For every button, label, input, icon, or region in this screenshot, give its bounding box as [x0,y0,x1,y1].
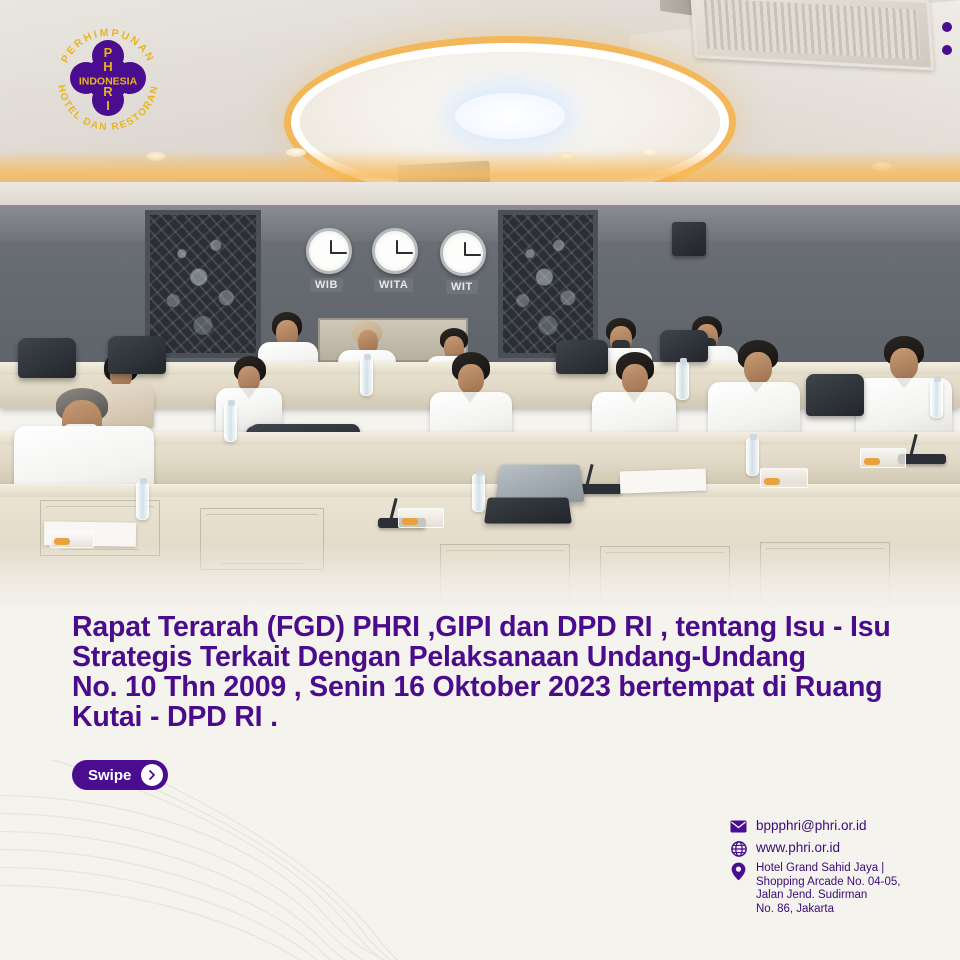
svg-text:I: I [106,98,110,113]
snack-box [860,448,906,468]
water-bottle [360,358,373,396]
contact-address-row: Hotel Grand Sahid Jaya | Shopping Arcade… [730,862,950,916]
clock-label-wib: WIB [310,278,343,292]
clock-wit [440,230,486,276]
map-pin-icon [730,863,747,880]
ceiling-lamp [455,93,565,139]
title-line-3: No. 10 Thn 2009 , Senin 16 Oktober 2023 … [72,672,902,702]
water-bottle [746,438,759,476]
chair [806,374,864,416]
laptop-bag [484,498,572,524]
snack-box [398,508,444,528]
clock-wita [372,228,418,274]
chair [556,340,608,374]
swipe-button[interactable]: Swipe [72,760,168,790]
clock-label-wit: WIT [446,280,478,294]
snack-box [760,468,808,488]
clock-label-wita: WITA [374,278,413,292]
carved-wall-panel-right [498,210,598,358]
address-line-4: No. 86, Jakarta [756,903,834,915]
water-bottle [930,380,943,418]
photo-fade [0,542,960,612]
poster-canvas: WIB WITA WIT [0,0,960,960]
chevron-right-icon [141,764,163,786]
envelope-icon [730,818,747,835]
water-bottle [676,362,689,400]
wall-speaker [672,222,706,256]
contact-email: bppphri@phri.or.id [756,818,867,834]
address-line-2: Shopping Arcade No. 04-05, [756,876,901,888]
svg-text:P: P [104,45,113,60]
event-title: Rapat Terarah (FGD) PHRI ,GIPI dan DPD R… [72,612,902,732]
globe-icon [730,840,747,857]
address-line-3: Jalan Jend. Sudirman [756,889,867,901]
contact-website-row[interactable]: www.phri.or.id [730,840,950,857]
contact-address: Hotel Grand Sahid Jaya | Shopping Arcade… [756,862,901,916]
wall-upper-band [0,205,960,241]
phri-logo: P H R I INDONESIA PERHIMPUNAN HOTEL DAN … [48,18,168,138]
title-line-2: Strategis Terkait Dengan Pelaksanaan Und… [72,642,902,672]
water-bottle [224,404,237,442]
title-line-4: Kutai - DPD RI . [72,702,902,732]
clock-wib [306,228,352,274]
contact-block: bppphri@phri.or.id www.phri.or.id [730,818,950,921]
documents [620,469,707,494]
chair [18,338,76,378]
svg-text:H: H [103,59,112,74]
logo-indonesia-text: INDONESIA [79,76,138,88]
chair [108,336,166,374]
cove-light-band [0,150,960,184]
water-bottle [136,482,149,520]
laptop [495,465,585,502]
address-line-1: Hotel Grand Sahid Jaya | [756,862,884,874]
decorative-curves [0,760,480,960]
water-bottle [472,474,485,512]
title-line-1: Rapat Terarah (FGD) PHRI ,GIPI dan DPD R… [72,612,902,642]
contact-website: www.phri.or.id [756,840,840,856]
swipe-label: Swipe [88,767,131,784]
contact-email-row[interactable]: bppphri@phri.or.id [730,818,950,835]
carved-wall-panel-left [145,210,261,358]
